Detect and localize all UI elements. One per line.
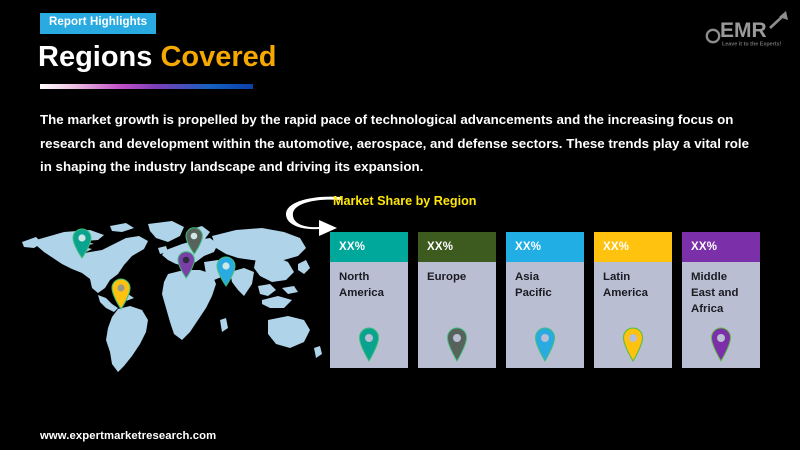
market-share-label: Market Share by Region (333, 194, 476, 208)
page-title-part-2: Covered (160, 41, 276, 73)
card-pin-latin-america (594, 327, 672, 362)
card-label-latin-america: Latin America (594, 262, 672, 301)
emr-logo-icon: EMR Leave it to the Experts! (696, 6, 792, 50)
card-pin-europe (418, 327, 496, 362)
page-title-part-1: Regions (38, 41, 160, 73)
card-percent-north-america: XX% (339, 241, 365, 253)
intro-paragraph: The market growth is propelled by the ra… (40, 108, 758, 179)
map-pin-latin-america[interactable] (112, 279, 130, 309)
card-label-line: America (339, 285, 408, 301)
card-pin-north-america (330, 327, 408, 362)
world-map-landmasses (22, 221, 322, 372)
card-header-europe: XX% (418, 232, 496, 262)
card-label-line: Middle (691, 269, 760, 285)
card-header-north-america: XX% (330, 232, 408, 262)
report-highlights-badge: Report Highlights (40, 13, 156, 34)
card-label-north-america: North America (330, 262, 408, 301)
card-label-europe: Europe (418, 262, 496, 285)
emr-logo: EMR Leave it to the Experts! (696, 6, 792, 50)
footer-website-url[interactable]: www.expertmarketresearch.com (40, 430, 216, 442)
card-header-latin-america: XX% (594, 232, 672, 262)
card-percent-europe: XX% (427, 241, 453, 253)
card-label-line: America (603, 285, 672, 301)
card-pin-asia-pacific (506, 327, 584, 362)
card-label-middle-east-and-africa: Middle East and Africa (682, 262, 760, 318)
card-percent-middle-east-and-africa: XX% (691, 241, 717, 253)
card-label-line: Asia (515, 269, 584, 285)
card-label-line: Pacific (515, 285, 584, 301)
card-label-line: East and (691, 285, 760, 301)
page-title: Regions Covered (38, 42, 277, 72)
card-label-line: Latin (603, 269, 672, 285)
world-map (6, 216, 326, 374)
world-map-svg (6, 216, 326, 374)
card-header-asia-pacific: XX% (506, 232, 584, 262)
card-label-line: North (339, 269, 408, 285)
region-card-asia-pacific[interactable]: XX% Asia Pacific (506, 232, 584, 368)
card-header-middle-east-and-africa: XX% (682, 232, 760, 262)
emr-logo-tagline: Leave it to the Experts! (722, 42, 782, 48)
card-label-line: Africa (691, 301, 760, 317)
card-label-asia-pacific: Asia Pacific (506, 262, 584, 301)
card-label-line: Europe (427, 269, 496, 285)
card-percent-latin-america: XX% (603, 241, 629, 253)
card-pin-middle-east-and-africa (682, 327, 760, 362)
region-card-europe[interactable]: XX% Europe (418, 232, 496, 368)
region-card-north-america[interactable]: XX% North America (330, 232, 408, 368)
emr-logo-wordmark: EMR (720, 19, 767, 42)
region-card-middle-east-and-africa[interactable]: XX% Middle East and Africa (682, 232, 760, 368)
title-gradient-divider (40, 84, 253, 89)
card-percent-asia-pacific: XX% (515, 241, 541, 253)
region-cards-group: XX% North America XX% Europe (330, 232, 762, 368)
region-card-latin-america[interactable]: XX% Latin America (594, 232, 672, 368)
